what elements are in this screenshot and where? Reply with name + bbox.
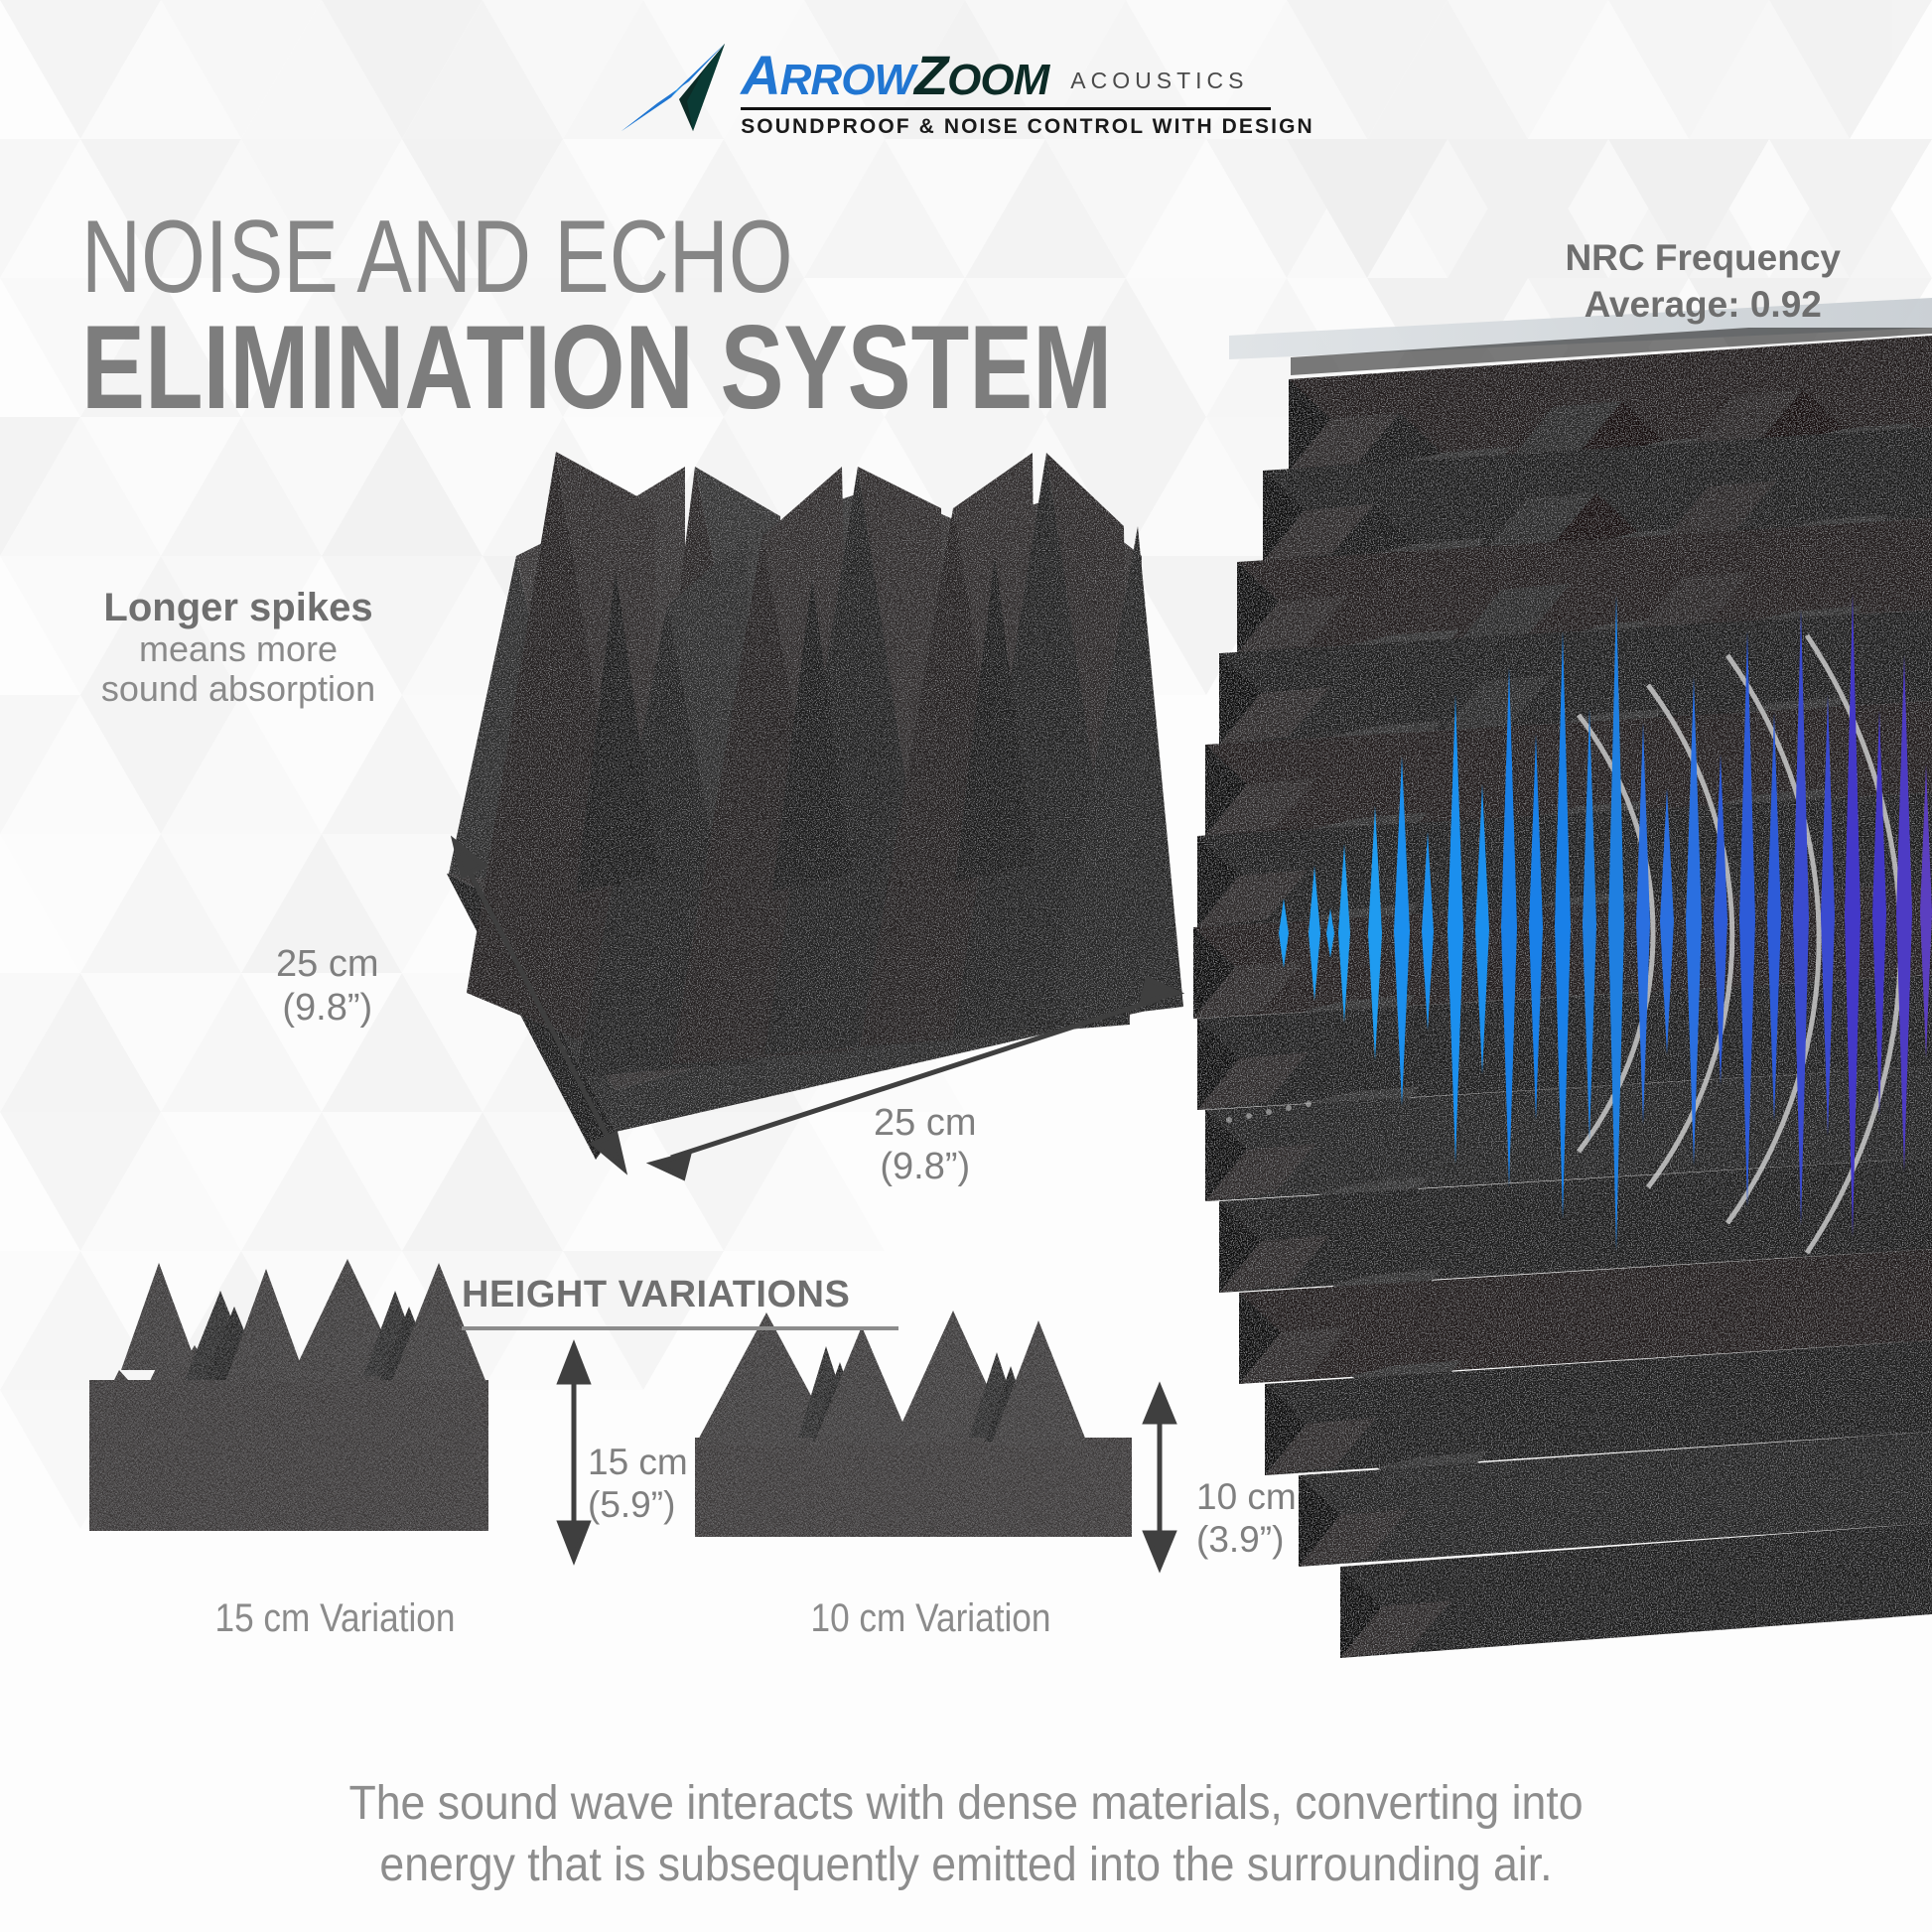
brand-category-label: ACOUSTICS xyxy=(1070,68,1248,94)
nrc-rating-badge: NRC Frequency Average: 0.92 xyxy=(1565,234,1841,329)
brand-tagline: SOUNDPROOF & NOISE CONTROL WITH DESIGN xyxy=(741,115,1314,139)
longer-spikes-text-line1: means more xyxy=(60,629,417,669)
nrc-label-line1: NRC Frequency xyxy=(1565,234,1841,281)
height-10cm-metric: 10 cm xyxy=(1196,1476,1297,1519)
arrow-logo-icon xyxy=(618,42,737,133)
height-15cm-imperial: (5.9”) xyxy=(588,1484,688,1527)
bottom-description: The sound wave interacts with dense mate… xyxy=(68,1773,1864,1897)
width-imperial: (9.8”) xyxy=(874,1146,976,1189)
brand-letter-z: Z xyxy=(914,44,947,106)
brand-letters-rrow: RROW xyxy=(780,56,914,104)
height-15cm-arrow xyxy=(560,1346,588,1559)
nrc-label-line2: Average: 0.92 xyxy=(1565,281,1841,328)
height-15cm-label: 15 cm (5.9”) xyxy=(588,1442,688,1526)
height-10cm-imperial: (3.9”) xyxy=(1196,1519,1297,1562)
height-15cm-metric: 15 cm xyxy=(588,1442,688,1484)
height-variations-underline xyxy=(462,1326,898,1330)
variation-caption-10cm: 10 cm Variation xyxy=(810,1596,1050,1641)
width-metric: 25 cm xyxy=(874,1102,976,1146)
height-variations-heading: HEIGHT VARIATIONS xyxy=(462,1274,850,1316)
depth-imperial: (9.8”) xyxy=(276,987,378,1031)
depth-dimension-label: 25 cm (9.8”) xyxy=(276,943,378,1030)
depth-metric: 25 cm xyxy=(276,943,378,987)
brand-wordmark: ARROWZOOM xyxy=(741,48,1048,103)
height-10cm-arrow xyxy=(1146,1388,1173,1567)
longer-spikes-callout: Longer spikes means more sound absorptio… xyxy=(60,586,417,710)
bottom-description-line1: The sound wave interacts with dense mate… xyxy=(179,1773,1754,1835)
height-10cm-label: 10 cm (3.9”) xyxy=(1196,1476,1297,1561)
logo-divider-rule xyxy=(741,107,1271,110)
brand-letter-a: A xyxy=(741,44,779,106)
brand-letters-oom: OOM xyxy=(947,56,1048,104)
depth-dimension-arrow xyxy=(455,842,623,1169)
longer-spikes-title: Longer spikes xyxy=(60,586,417,629)
infographic-poster: ARROWZOOM ACOUSTICS SOUNDPROOF & NOISE C… xyxy=(0,0,1932,1932)
variation-caption-15cm: 15 cm Variation xyxy=(214,1596,455,1641)
brand-logo[interactable]: ARROWZOOM ACOUSTICS SOUNDPROOF & NOISE C… xyxy=(0,42,1932,139)
bottom-description-line2: energy that is subsequently emitted into… xyxy=(179,1835,1754,1896)
longer-spikes-text-line2: sound absorption xyxy=(60,669,417,709)
width-dimension-label: 25 cm (9.8”) xyxy=(874,1102,976,1188)
